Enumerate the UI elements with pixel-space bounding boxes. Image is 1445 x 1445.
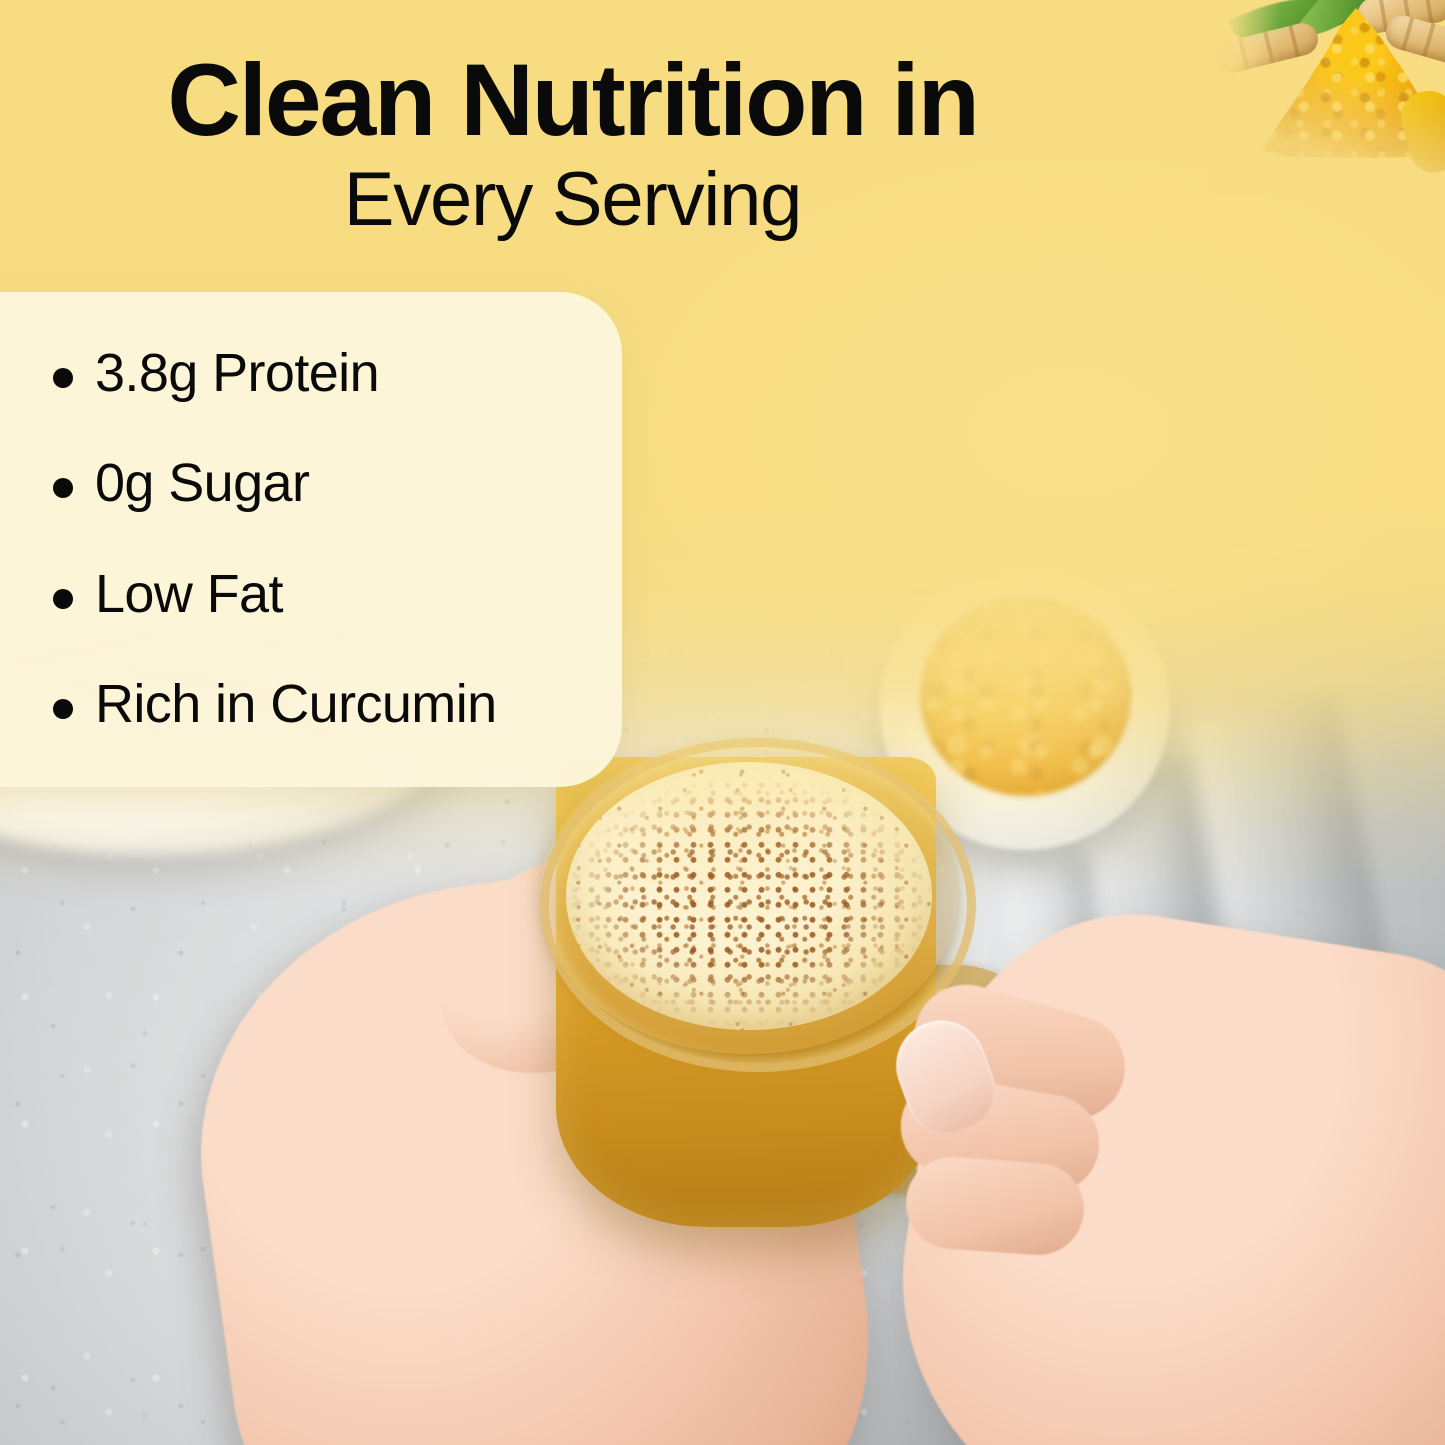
benefits-list: 3.8g Protein 0g Sugar Low Fat Rich in Cu… <box>0 292 622 735</box>
benefit-label: 0g Sugar <box>95 453 309 513</box>
page-title: Clean Nutrition in <box>0 48 1145 152</box>
list-item: Rich in Curcumin <box>95 675 622 734</box>
benefit-label: Low Fat <box>95 564 283 624</box>
benefit-label: 3.8g Protein <box>95 343 379 403</box>
benefits-panel: 3.8g Protein 0g Sugar Low Fat Rich in Cu… <box>0 292 622 787</box>
benefit-label: Rich in Curcumin <box>95 674 497 734</box>
list-item: Low Fat <box>95 565 622 624</box>
bullet-icon <box>53 478 73 498</box>
heading-block: Clean Nutrition in Every Serving <box>0 48 1145 241</box>
bullet-icon <box>53 368 73 388</box>
list-item: 0g Sugar <box>95 454 622 513</box>
bullet-icon <box>53 699 73 719</box>
page-subtitle: Every Serving <box>0 160 1145 241</box>
turmeric-icon <box>1209 0 1445 180</box>
list-item: 3.8g Protein <box>95 344 622 403</box>
bullet-icon <box>53 589 73 609</box>
promo-banner: Clean Nutrition in Every Serving 3.8g Pr… <box>0 0 1445 1445</box>
turmeric-fade-mask <box>1209 0 1445 194</box>
